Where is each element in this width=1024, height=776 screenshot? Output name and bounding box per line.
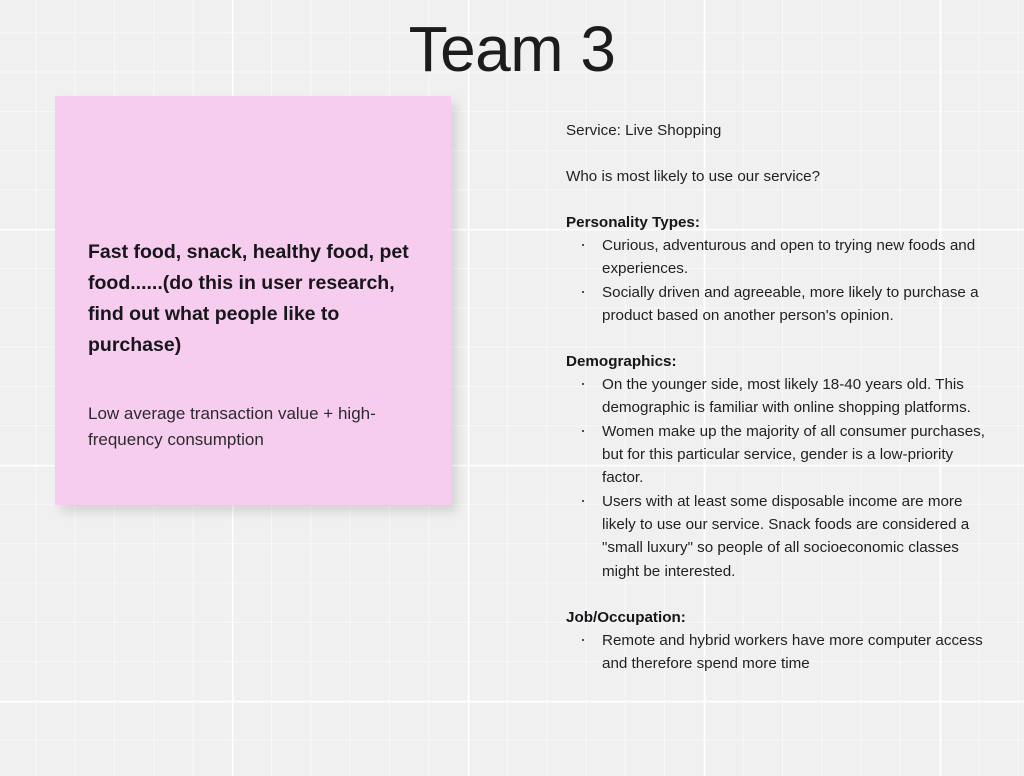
list-item: Socially driven and agreeable, more like… (566, 281, 986, 328)
section-heading-demographics: Demographics: (566, 350, 986, 373)
list-item: Remote and hybrid workers have more comp… (566, 629, 986, 676)
service-line: Service: Live Shopping (566, 119, 986, 142)
list-item: Women make up the majority of all consum… (566, 420, 986, 490)
sticky-note-subtext: Low average transaction value + high-fre… (88, 401, 418, 453)
page-title: Team 3 (0, 14, 1024, 84)
list-item: On the younger side, most likely 18-40 y… (566, 373, 986, 420)
bullet-list-demographics: On the younger side, most likely 18-40 y… (566, 373, 986, 583)
section-heading-job-occupation: Job/Occupation: (566, 606, 986, 629)
question-line: Who is most likely to use our service? (566, 165, 986, 188)
list-item: Users with at least some disposable inco… (566, 490, 986, 583)
sticky-note-heading: Fast food, snack, healthy food, pet food… (88, 237, 418, 361)
section-heading-personality-types: Personality Types: (566, 211, 986, 234)
sticky-note-content: Fast food, snack, healthy food, pet food… (88, 237, 418, 453)
text-spacer (566, 583, 986, 606)
sticky-note-pink[interactable]: Fast food, snack, healthy food, pet food… (55, 96, 451, 505)
list-item: Curious, adventurous and open to trying … (566, 234, 986, 281)
bullet-list-job-occupation: Remote and hybrid workers have more comp… (566, 629, 986, 676)
bullet-list-personality-types: Curious, adventurous and open to trying … (566, 234, 986, 327)
text-spacer (566, 327, 986, 350)
text-spacer (566, 188, 986, 211)
text-spacer (566, 142, 986, 165)
notes-text-block[interactable]: Service: Live Shopping Who is most likel… (566, 119, 986, 675)
